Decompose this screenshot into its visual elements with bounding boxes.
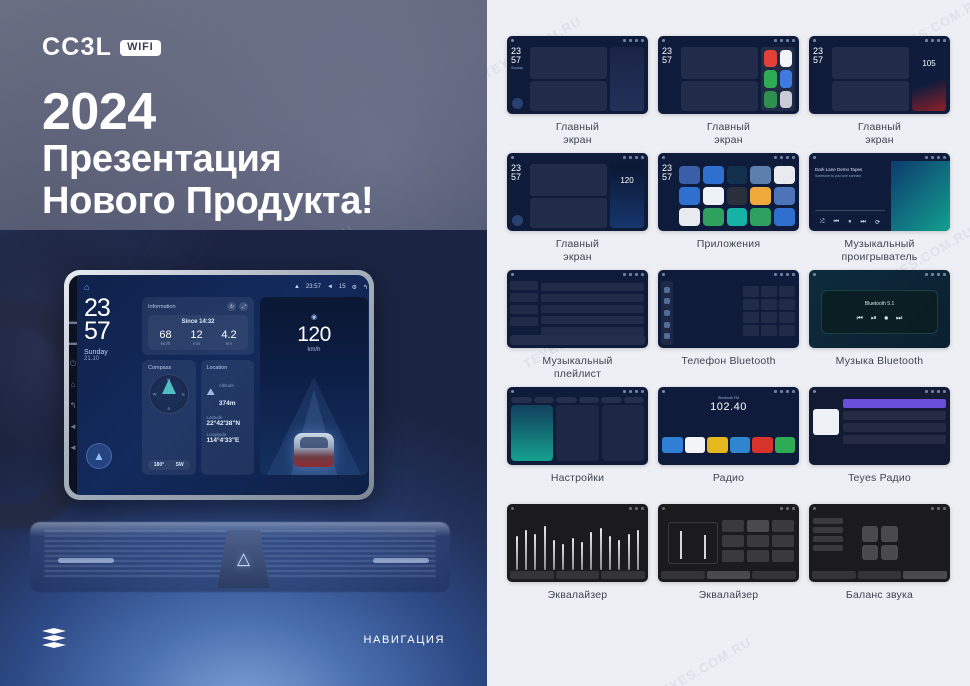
location-widget[interactable]: Location ⛰ Altitude 374m bbox=[201, 360, 255, 475]
playlist-tracks[interactable] bbox=[541, 283, 644, 335]
expand-icon[interactable]: ⤢ bbox=[239, 302, 248, 311]
widgets-column: Information ↻ ⤢ Since 14:32 bbox=[142, 297, 254, 475]
head-unit-side-buttons[interactable]: ▬ ▬ ⏻ ⌂ ↰ ◄ ◄ bbox=[69, 275, 77, 495]
information-widget[interactable]: Information ↻ ⤢ Since 14:32 bbox=[142, 297, 254, 355]
status-time: 23:57 bbox=[306, 284, 321, 290]
trip-since: Since 14:32 bbox=[150, 319, 246, 325]
playback-controls[interactable]: ⤮ ⏮ ⏸ ⏭ ⟳ bbox=[815, 219, 885, 226]
caption-line2: экран bbox=[563, 134, 591, 146]
caption-line2: экран bbox=[714, 134, 742, 146]
speed-value: 120 bbox=[260, 323, 368, 347]
clock-widget: 23 57 Sunday 21.10 ▲ bbox=[84, 297, 136, 475]
speed-value: 120 bbox=[610, 176, 644, 185]
compass-east: E bbox=[182, 392, 185, 397]
headline-line2: Нового Продукта! bbox=[42, 181, 373, 223]
car-interior-scene: ▬ ▬ ⏻ ⌂ ↰ ◄ ◄ ⌂ ▲ 23:57 bbox=[0, 230, 487, 686]
bt-music-card: Bluetooth 5.1 ⏮ ⏯ ⏹ ⏭ bbox=[821, 290, 938, 334]
home-icon[interactable]: ⌂ bbox=[71, 381, 76, 389]
latitude-row: Latitude 22°42'38"N bbox=[207, 415, 249, 427]
wifi-badge: WIFI bbox=[120, 40, 160, 56]
latitude-value: 22°42'38"N bbox=[207, 420, 249, 427]
equalizer-tabs[interactable] bbox=[510, 571, 645, 579]
caption-line1: Приложения bbox=[697, 238, 760, 250]
brand-logo: CC3L WIFI bbox=[42, 33, 161, 62]
thumbnail-bluetooth-phone[interactable] bbox=[658, 270, 799, 348]
stat-value: 12 bbox=[190, 329, 202, 341]
pause-icon[interactable]: ⏸ bbox=[848, 219, 851, 226]
balance-tabs[interactable] bbox=[812, 571, 947, 579]
phone-nav-rail[interactable] bbox=[661, 281, 673, 345]
information-actions[interactable]: ↻ ⤢ bbox=[227, 302, 248, 311]
compass-west: W bbox=[153, 392, 157, 397]
compass-north: N bbox=[167, 377, 170, 382]
stat-unit: min bbox=[190, 341, 202, 346]
navigation-label: НАВИГАЦИЯ bbox=[364, 634, 445, 646]
trip-stat-row: 68 km/h 12 min bbox=[150, 329, 246, 346]
trip-stat: 68 km/h bbox=[159, 329, 171, 346]
caption-line1: Эквалайзер bbox=[548, 589, 608, 601]
caption-line1: Эквалайзер bbox=[699, 589, 759, 601]
brand-name: CC3L bbox=[42, 33, 112, 62]
location-title: Location bbox=[207, 365, 249, 371]
progress-bar[interactable] bbox=[815, 210, 885, 212]
home-icon[interactable]: ⌂ bbox=[84, 282, 89, 292]
settings-tabs[interactable] bbox=[511, 397, 644, 403]
clock-day: Sunday bbox=[84, 349, 136, 356]
head-unit-body: ▬ ▬ ⏻ ⌂ ↰ ◄ ◄ ⌂ ▲ 23:57 bbox=[69, 275, 369, 495]
caption-line2: экран bbox=[563, 251, 591, 263]
thumbnail-home-apps[interactable]: 2357 bbox=[658, 36, 799, 114]
compass-dial: N S W E bbox=[149, 374, 189, 414]
gallery-item[interactable]: 2357 120 Главныйэкран bbox=[507, 153, 648, 264]
information-header: Information ↻ ⤢ bbox=[148, 302, 248, 311]
watermark: TEYES.COM.RU bbox=[651, 634, 755, 686]
speed-icon: ◉ bbox=[311, 313, 317, 321]
compass-readout: 180° SW bbox=[148, 460, 190, 470]
back-icon[interactable]: ↰ bbox=[70, 402, 77, 410]
navigation-arrow-icon[interactable]: ▲ bbox=[86, 443, 112, 469]
thumbnail-equalizer-presets[interactable] bbox=[658, 504, 799, 582]
thumbnail-radio[interactable]: Bluetooth FM 102.40 bbox=[658, 387, 799, 465]
thumbnail-music-player[interactable]: Dark Lane Demo Tapes Someone to you love… bbox=[809, 153, 950, 231]
caption-line1: Главный bbox=[556, 238, 599, 250]
altitude-row: ⛰ Altitude 374m bbox=[207, 374, 249, 410]
lower-widgets: Compass N S W E bbox=[142, 360, 254, 475]
thumbnail-teyes-radio[interactable] bbox=[809, 387, 950, 465]
radio-presets[interactable] bbox=[662, 437, 795, 453]
album-visualizer bbox=[891, 161, 950, 231]
caption-line1: Музыка Bluetooth bbox=[836, 355, 924, 367]
gallery-item[interactable]: Музыкальныйплейлист bbox=[507, 270, 648, 381]
gallery-item[interactable]: Настройки bbox=[507, 387, 648, 498]
gallery-item[interactable]: 2357Sunday Главныйэкран bbox=[507, 36, 648, 147]
stat-unit: km bbox=[221, 341, 236, 346]
caption-line1: Музыкальный bbox=[542, 355, 612, 367]
next-icon[interactable]: ⏭ bbox=[896, 315, 902, 323]
clock-minutes: 57 bbox=[84, 320, 136, 343]
altitude-value: 374m bbox=[219, 400, 236, 407]
status-icons: ▲ 23:57 ◄ 15 ⚙ ↰ bbox=[294, 284, 368, 291]
car-3d-model bbox=[294, 433, 334, 467]
mute-icon[interactable]: ◄ bbox=[69, 423, 77, 431]
longitude-row: Longitude 114°4'33"E bbox=[207, 432, 249, 444]
wifi-icon: ▲ bbox=[294, 284, 300, 290]
screenshot-gallery-panel: TEYES.COM.RU TEYES.COM.RU TEYES.COM.RU T… bbox=[487, 0, 970, 686]
radio-frequency: 102.40 bbox=[658, 401, 799, 413]
caption-line1: Музыкальный bbox=[844, 238, 914, 250]
repeat-icon[interactable]: ⟳ bbox=[875, 219, 880, 226]
compass-widget[interactable]: Compass N S W E bbox=[142, 360, 196, 475]
caption-line1: Главный bbox=[707, 121, 750, 133]
caption-line1: Баланс звука bbox=[846, 589, 913, 601]
stop-icon[interactable]: ⏹ bbox=[885, 315, 889, 323]
left-hero-panel: TEYES.COM.RU TEYES.COM.RU CC3L WIFI 2024… bbox=[0, 0, 487, 686]
gallery-item[interactable]: Bluetooth 5.1 ⏮ ⏯ ⏹ ⏭ Музыка Bluetooth bbox=[809, 270, 950, 381]
caption-line2: проигрыватель bbox=[842, 251, 918, 263]
mini-player-bar[interactable] bbox=[510, 335, 645, 345]
gallery-item[interactable]: 2357 Главныйэкран bbox=[658, 36, 799, 147]
back-arrow-icon[interactable]: ↰ bbox=[363, 284, 368, 291]
gallery-item[interactable]: Телефон Bluetooth bbox=[658, 270, 799, 381]
caption-line1: Главный bbox=[556, 121, 599, 133]
radio-band: Bluetooth FM bbox=[658, 396, 799, 400]
stat-value: 4.2 bbox=[221, 329, 236, 341]
bt-playback-controls[interactable]: ⏮ ⏯ ⏹ ⏭ bbox=[822, 315, 937, 323]
thumbnail-home-speed-red[interactable]: 2357 105 bbox=[809, 36, 950, 114]
vol-up-icon[interactable]: ▬ bbox=[69, 318, 77, 326]
dial-pad[interactable] bbox=[743, 286, 795, 336]
gallery-item[interactable]: Bluetooth FM 102.40 Радио bbox=[658, 387, 799, 498]
menu-icon[interactable]: ◄ bbox=[69, 444, 77, 452]
caption-line1: Телефон Bluetooth bbox=[681, 355, 775, 367]
presentation-slide: TEYES.COM.RU TEYES.COM.RU CC3L WIFI 2024… bbox=[0, 0, 970, 686]
compass-heading: 180° bbox=[154, 462, 164, 468]
compass-direction: SW bbox=[176, 462, 184, 468]
track-artist: Someone to you love connect bbox=[815, 174, 885, 178]
gallery-item[interactable]: Эквалайзер bbox=[507, 504, 648, 615]
stat-unit: km/h bbox=[159, 341, 171, 346]
speaker-balance-pad[interactable] bbox=[862, 526, 898, 560]
volume-level: 15 bbox=[339, 284, 346, 290]
refresh-icon[interactable]: ↻ bbox=[227, 302, 236, 311]
caption-line2: плейлист bbox=[554, 368, 601, 380]
trip-stat: 4.2 km bbox=[221, 329, 236, 346]
headline: 2024 Презентация Нового Продукта! bbox=[42, 86, 373, 223]
shuffle-icon[interactable]: ⤮ bbox=[820, 219, 825, 226]
previous-icon[interactable]: ⏮ bbox=[834, 219, 839, 226]
gallery-grid: 2357Sunday Главныйэкран 2357 bbox=[507, 36, 950, 615]
layers-icon bbox=[42, 628, 66, 648]
thumbnail-playlist[interactable] bbox=[507, 270, 648, 348]
gallery-item[interactable]: 2357 105 Главныйэкран bbox=[809, 36, 950, 147]
caption-line1: Радио bbox=[713, 472, 744, 484]
thumbnail-sound-balance[interactable] bbox=[809, 504, 950, 582]
vent-slit-right bbox=[373, 558, 429, 563]
power-icon[interactable]: ⏻ bbox=[70, 360, 76, 368]
gallery-item[interactable]: 2357 Прилож bbox=[658, 153, 799, 264]
settings-tiles[interactable] bbox=[511, 405, 644, 461]
equalizer-tabs[interactable] bbox=[661, 571, 796, 579]
vent-slit-left bbox=[58, 558, 114, 563]
previous-icon[interactable]: ⏮ bbox=[857, 315, 863, 323]
headline-line1: Презентация bbox=[42, 139, 373, 181]
compass-south: S bbox=[167, 406, 170, 411]
gallery-item[interactable]: Эквалайзер bbox=[658, 504, 799, 615]
thumbnail-bluetooth-music[interactable]: Bluetooth 5.1 ⏮ ⏯ ⏹ ⏭ bbox=[809, 270, 950, 348]
speed-unit: km/h bbox=[260, 347, 368, 353]
hazard-triangle-icon: △ bbox=[237, 549, 250, 569]
balance-presets[interactable] bbox=[813, 518, 843, 551]
home-screen-content: 23 57 Sunday 21.10 ▲ Information bbox=[84, 297, 368, 475]
next-icon[interactable]: ⏭ bbox=[861, 219, 866, 226]
track-title: Dark Lane Demo Tapes bbox=[815, 167, 885, 172]
longitude-value: 114°4'33"E bbox=[207, 437, 249, 444]
stat-value: 68 bbox=[159, 329, 171, 341]
head-unit-screen[interactable]: ⌂ ▲ 23:57 ◄ 15 ⚙ ↰ bbox=[77, 275, 369, 495]
caption-line1: Главный bbox=[858, 121, 901, 133]
head-unit-status-bar: ⌂ ▲ 23:57 ◄ 15 ⚙ ↰ bbox=[84, 281, 368, 293]
gallery-item[interactable]: Teyes Радио bbox=[809, 387, 950, 498]
trip-stats: Since 14:32 68 km/h 12 bbox=[148, 315, 248, 350]
caption-line2: экран bbox=[865, 134, 893, 146]
caption-line1: Настройки bbox=[551, 472, 604, 484]
bluetooth-version: Bluetooth 5.1 bbox=[822, 301, 937, 307]
thumbnail-apps[interactable]: 2357 bbox=[658, 153, 799, 231]
compass-title: Compass bbox=[148, 365, 190, 371]
mountain-icon: ⛰ bbox=[207, 387, 215, 398]
gallery-item[interactable]: Dark Lane Demo Tapes Someone to you love… bbox=[809, 153, 950, 264]
headline-year: 2024 bbox=[42, 86, 373, 139]
gear-icon[interactable]: ⚙ bbox=[352, 284, 357, 291]
thumbnail-settings[interactable] bbox=[507, 387, 648, 465]
clock-date: 21.10 bbox=[84, 356, 136, 362]
volume-icon: ◄ bbox=[327, 284, 333, 290]
vol-down-icon[interactable]: ▬ bbox=[69, 339, 77, 347]
thumbnail-home-media[interactable]: 2357Sunday bbox=[507, 36, 648, 114]
playlist-categories[interactable] bbox=[510, 281, 538, 334]
caption-line1: Teyes Радио bbox=[848, 472, 911, 484]
thumbnail-home-speed[interactable]: 2357 120 bbox=[507, 153, 648, 231]
altitude-label: Altitude bbox=[219, 383, 234, 388]
head-unit-frame: ▬ ▬ ⏻ ⌂ ↰ ◄ ◄ ⌂ ▲ 23:57 bbox=[64, 270, 374, 500]
gallery-item[interactable]: Баланс звука bbox=[809, 504, 950, 615]
trip-stat: 12 min bbox=[190, 329, 202, 346]
play-pause-icon[interactable]: ⏯ bbox=[871, 315, 877, 323]
speed-widget[interactable]: ◉ 120 km/h bbox=[260, 297, 368, 475]
speed-value: 105 bbox=[912, 59, 946, 68]
information-title: Information bbox=[148, 304, 176, 310]
thumbnail-equalizer-bars[interactable] bbox=[507, 504, 648, 582]
